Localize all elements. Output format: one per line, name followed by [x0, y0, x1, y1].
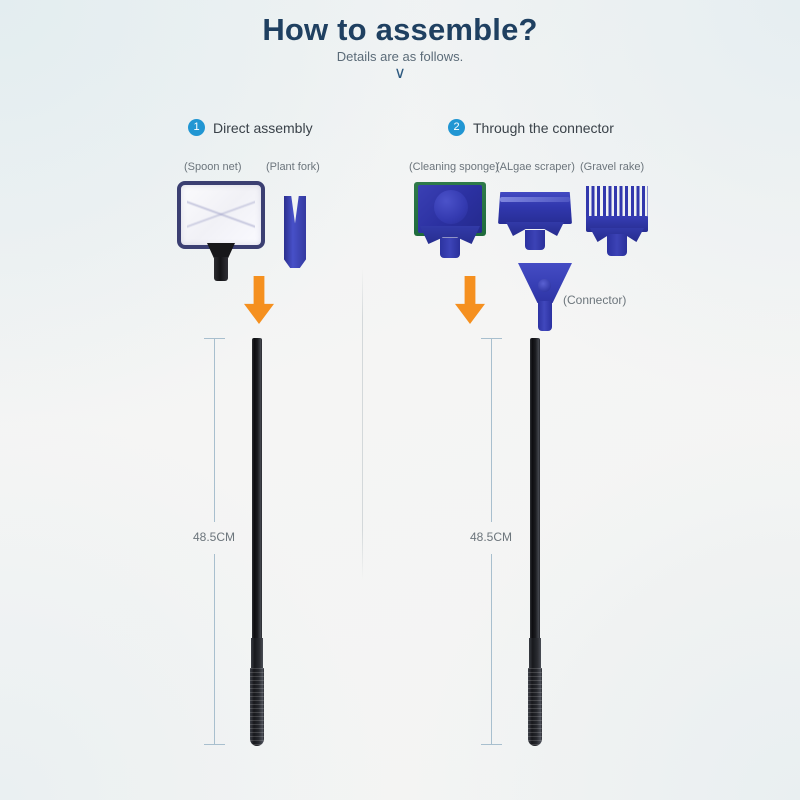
measure-label-2: 48.5CM [447, 530, 535, 544]
scraper-edge [500, 197, 570, 202]
caption-cleaning-sponge: (Cleaning sponge) [409, 161, 499, 173]
spoon-net-frame [177, 181, 265, 249]
measure-label-1: 48.5CM [170, 530, 258, 544]
connector-shaft [538, 301, 552, 331]
orange-down-arrow-icon-1 [244, 276, 274, 324]
measure-cap-bottom-2 [481, 744, 502, 745]
caption-spoon-net: (Spoon net) [184, 161, 241, 173]
page-title: How to assemble? [0, 12, 800, 48]
pole-rod-1 [252, 338, 262, 638]
spoon-net-stem [214, 257, 228, 281]
measure-line-upper-1 [214, 338, 215, 522]
step-badge-2: 2 [448, 119, 465, 136]
pole-grip-2 [528, 668, 542, 746]
plant-fork-icon [284, 196, 308, 270]
step-header-1: 1 Direct assembly [188, 119, 313, 136]
gravel-rake-icon [586, 186, 650, 258]
chevron-down-icon: ∨ [0, 66, 800, 82]
pole-grip-1 [250, 668, 264, 746]
pole-rod-2 [530, 338, 540, 638]
step-label-1: Direct assembly [213, 120, 313, 136]
caption-connector: (Connector) [563, 293, 626, 307]
page-subtitle: Details are as follows. [0, 49, 800, 64]
algae-scraper-icon [498, 192, 574, 260]
scraper-stem [525, 230, 545, 250]
sponge-stem [440, 238, 460, 258]
rake-stem [607, 234, 627, 256]
measure-line-lower-1 [214, 554, 215, 744]
measure-cap-bottom-1 [204, 744, 225, 745]
pole-neck-2 [529, 638, 541, 670]
sponge-boss [434, 190, 468, 224]
spoon-net-icon [177, 181, 269, 283]
orange-down-arrow-icon-2 [455, 276, 485, 324]
cleaning-sponge-icon [414, 182, 488, 260]
step-badge-1: 1 [188, 119, 205, 136]
connector-hole [538, 279, 551, 292]
step-label-2: Through the connector [473, 120, 614, 136]
measure-line-lower-2 [491, 554, 492, 744]
section-divider [362, 268, 363, 580]
plant-fork-body [284, 196, 306, 268]
measure-line-upper-2 [491, 338, 492, 522]
caption-gravel-rake: (Gravel rake) [580, 161, 644, 173]
step-header-2: 2 Through the connector [448, 119, 614, 136]
caption-plant-fork: (Plant fork) [266, 161, 320, 173]
caption-algae-scraper: (ALgae scraper) [496, 161, 575, 173]
infographic-page: How to assemble? Details are as follows.… [0, 0, 800, 800]
pole-neck-1 [251, 638, 263, 670]
